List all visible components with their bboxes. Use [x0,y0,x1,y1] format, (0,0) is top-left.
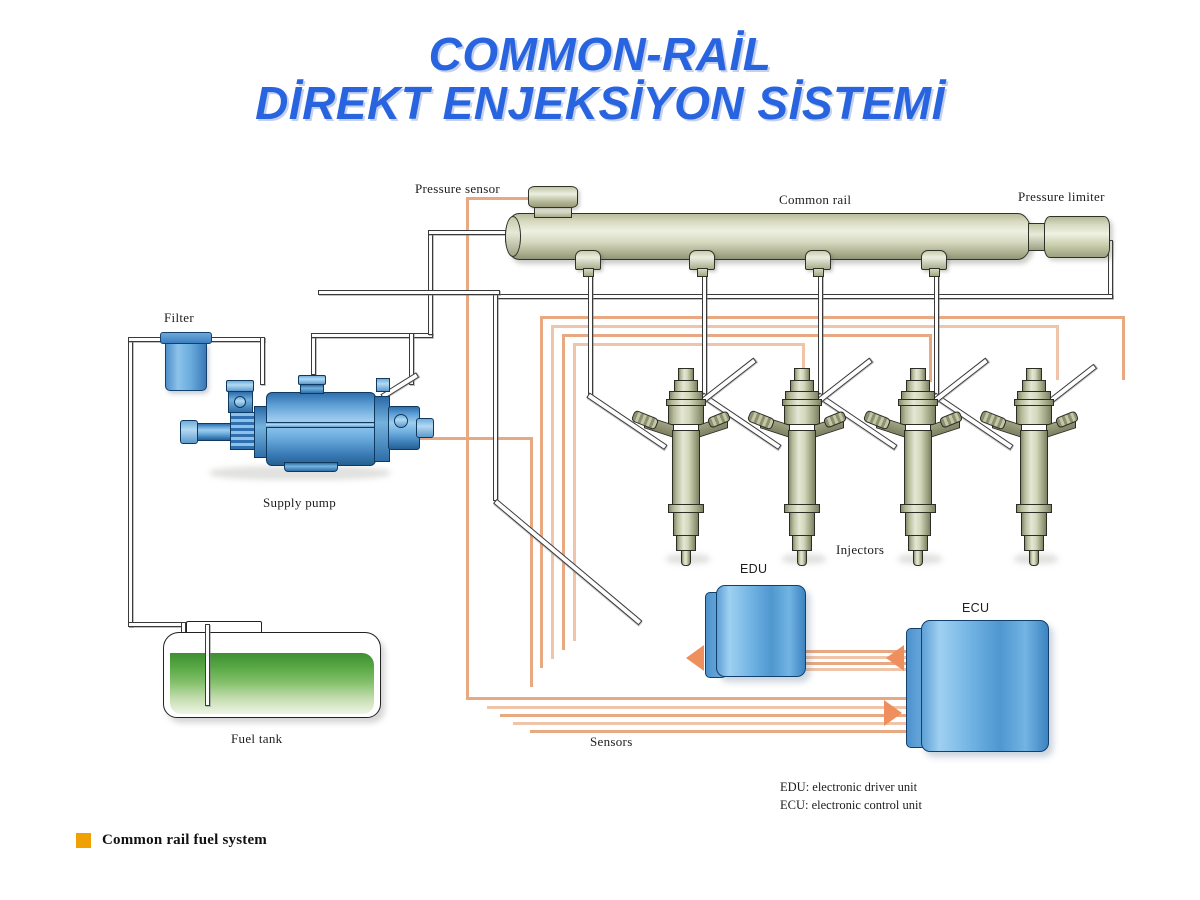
pipe-tank-to-filter-v [128,337,133,627]
legend: Common rail fuel system [76,832,267,849]
injector-nozzle-holder [673,512,699,536]
rail-port-neck-2 [697,268,708,277]
wire-sensor-bus-3 [500,714,918,717]
rail-port-neck-1 [583,268,594,277]
wire-sensor-bus-2 [487,706,918,709]
supply-pump [180,370,425,480]
wire-sensor-bus-4 [513,722,918,725]
injector-nozzle-tip [797,550,807,566]
legend-label: Common rail fuel system [102,832,267,849]
pump-rear-port [394,414,408,428]
wire-injector-1-v [540,316,543,668]
pump-shaft-nut [180,420,198,444]
rail-port-4 [921,250,947,270]
pressure-sensor-body [528,186,578,208]
label-common-rail: Common rail [779,192,851,208]
footnote-ecu: ECU: electronic control unit [780,798,922,813]
pipe-return-down-v [493,294,498,501]
injector-nozzle-tip [681,550,691,566]
rail-port-neck-4 [929,268,940,277]
injector-hexnut [668,405,704,425]
injector-nozzle-tip [913,550,923,566]
rail-port-1 [575,250,601,270]
injector-barrel [672,430,700,506]
rail-port-3 [805,250,831,270]
wire-pressure-sensor [466,197,469,697]
label-supply-pump: Supply pump [263,495,336,511]
pipe-tank-outlet [128,622,186,627]
wire-injector-2-v [551,325,554,659]
pipe-hp-1-v [588,276,593,396]
fuel-tank-pickup-pipe [205,624,210,706]
common-rail-left-cap [505,216,521,257]
injector-4 [1008,368,1060,568]
pump-inlet-neck [300,384,324,394]
injector-hexnut [900,405,936,425]
wire-injector-1-h [540,316,1125,319]
page-title: COMMON-RAİL DİREKT ENJEKSİYON SİSTEMİ [0,30,1200,128]
wire-injector-4-h [573,343,805,346]
label-pressure-limiter: Pressure limiter [1018,189,1105,205]
wire-sensor-bus-5 [530,730,918,733]
wire-injector-2-h [551,325,1059,328]
label-sensors: Sensors [590,734,633,750]
rail-port-2 [689,250,715,270]
footnote-edu: EDU: electronic driver unit [780,780,922,795]
pump-foot [284,462,338,472]
abbreviation-notes: EDU: electronic driver unit ECU: electro… [780,780,922,813]
pipe-filter-outlet [207,337,265,342]
arrow-to-edu [686,645,704,671]
wire-sensor-bus-1 [466,697,918,700]
wire-pump-signal-v [530,437,533,687]
arrow-to-ecu-upper [886,645,904,671]
rail-port-neck-3 [813,268,824,277]
pipe-pump-to-rail-h [311,333,433,338]
label-fuel-tank: Fuel tank [231,731,282,747]
wire-injector-3-v [562,334,565,650]
title-line-2: DİREKT ENJEKSİYON SİSTEMİ [0,79,1200,128]
injector-nozzle-holder [789,512,815,536]
injector-nozzle-body [1024,535,1044,551]
pipe-return-diag-to-tank [493,499,642,626]
pipe-pump-top-riser [311,333,316,375]
wire-injector-1-r [1122,316,1125,380]
wire-injector-4-v [573,343,576,641]
legend-swatch-icon [76,833,91,848]
ecu-body [921,620,1049,752]
wire-injector-3-h [562,334,932,337]
pump-housing-seam [266,422,376,428]
label-edu: EDU [740,562,767,576]
pump-outlet-boss [416,418,434,438]
pump-top-port [376,378,390,392]
injector-hexnut [1016,405,1052,425]
injector-nozzle-holder [905,512,931,536]
injector-hexnut [784,405,820,425]
wire-pressure-sensor-top [466,197,536,200]
pipe-rail-feed-v [428,230,433,335]
edu-body [716,585,806,677]
injector-barrel [904,430,932,506]
pressure-limiter-body [1044,216,1110,258]
pipe-return-long-h [493,294,1113,299]
injector-1 [660,368,712,568]
slide-canvas: COMMON-RAİL DİREKT ENJEKSİYON SİSTEMİ [0,0,1200,900]
title-line-1: COMMON-RAİL [0,30,1200,79]
injector-nozzle-holder [1021,512,1047,536]
injector-barrel [1020,430,1048,506]
injector-3 [892,368,944,568]
injector-nozzle-body [792,535,812,551]
label-filter: Filter [164,310,194,326]
pipe-rail-feed-h [428,230,510,235]
injector-2 [776,368,828,568]
fuel-tank-fuel-level [170,653,374,714]
injector-nozzle-tip [1029,550,1039,566]
label-ecu: ECU [962,601,989,615]
pump-spline [230,412,256,450]
injector-nozzle-body [676,535,696,551]
injector-barrel [788,430,816,506]
pump-housing [266,392,376,466]
label-pressure-sensor: Pressure sensor [415,181,500,197]
label-injectors: Injectors [836,542,884,558]
injector-nozzle-body [908,535,928,551]
pump-shaft [197,423,231,441]
pipe-pump-leakoff-h [318,290,500,295]
pump-solenoid-port [234,396,246,408]
arrow-to-ecu-lower [884,700,902,726]
